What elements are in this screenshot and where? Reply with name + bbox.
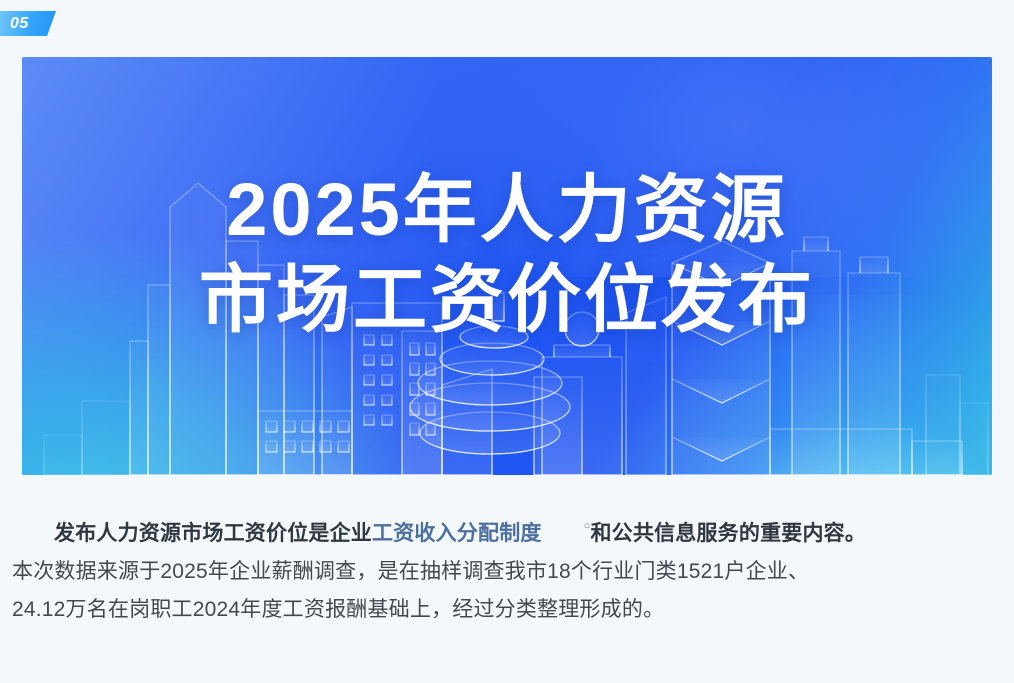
wage-distribution-link[interactable]: 工资收入分配制度 bbox=[372, 522, 542, 545]
badge-number-label: 05 bbox=[10, 11, 29, 36]
hero-title: 2025年人力资源 市场工资价位发布 bbox=[22, 165, 992, 345]
article-body: 发布人力资源市场工资价位是企业工资收入分配制度○和公共信息服务的重要内容。 本次… bbox=[12, 515, 1002, 629]
lead-prefix-text: 发布人力资源市场工资价位是企业 bbox=[54, 522, 372, 545]
body-line-3: 24.12万名在岗职工2024年度工资报酬基础上，经过分类整理形成的。 bbox=[12, 591, 1002, 629]
hero-banner: 2025年人力资源 市场工资价位发布 bbox=[22, 57, 992, 475]
hero-title-line-2: 市场工资价位发布 bbox=[22, 255, 992, 345]
lead-suffix-text: 和公共信息服务的重要内容。 bbox=[590, 522, 866, 545]
lead-paragraph: 发布人力资源市场工资价位是企业工资收入分配制度○和公共信息服务的重要内容。 bbox=[12, 515, 1002, 553]
search-icon[interactable]: ○ bbox=[542, 521, 591, 532]
body-line-2: 本次数据来源于2025年企业薪酬调查，是在抽样调查我市18个行业门类1521户企… bbox=[12, 553, 1002, 591]
page-number-badge: 05 bbox=[0, 11, 56, 36]
hero-title-line-1: 2025年人力资源 bbox=[22, 165, 992, 255]
